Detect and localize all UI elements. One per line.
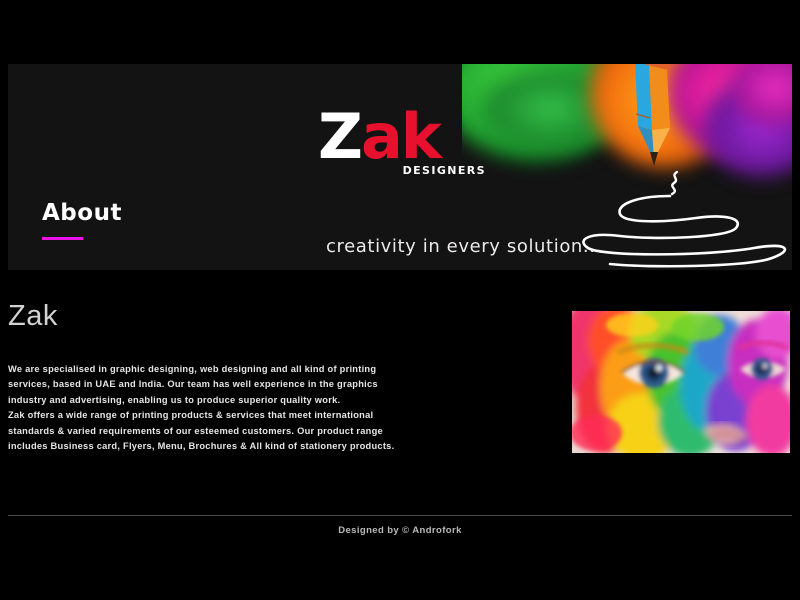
footer-divider [8, 515, 792, 516]
logo-wordmark: Zak [318, 106, 488, 168]
logo-subtitle: DESIGNERS [403, 164, 486, 177]
content-heading: Zak [8, 300, 58, 333]
footer-credit: Designed by © Androfork [0, 525, 800, 536]
logo-letter-z: Z [318, 100, 361, 173]
pencil-icon [608, 64, 704, 184]
hero-tagline: creativity in every solution... [326, 236, 602, 257]
content-paragraph-2: Zak offers a wide range of printing prod… [8, 408, 398, 454]
page-title: About [42, 200, 122, 226]
rainbow-face-photo [572, 311, 790, 453]
content-body: We are specialised in graphic designing,… [8, 362, 398, 454]
brand-logo: Zak DESIGNERS [318, 106, 488, 168]
side-image [572, 311, 790, 453]
page-title-underline [42, 237, 83, 240]
page-title-block: About [42, 200, 122, 240]
hero-banner: Zak DESIGNERS creativity in every soluti… [8, 64, 792, 270]
content-paragraph-1: We are specialised in graphic designing,… [8, 362, 398, 408]
logo-letters-ak: ak [361, 100, 440, 173]
main-content: Zak We are specialised in graphic design… [0, 292, 800, 502]
